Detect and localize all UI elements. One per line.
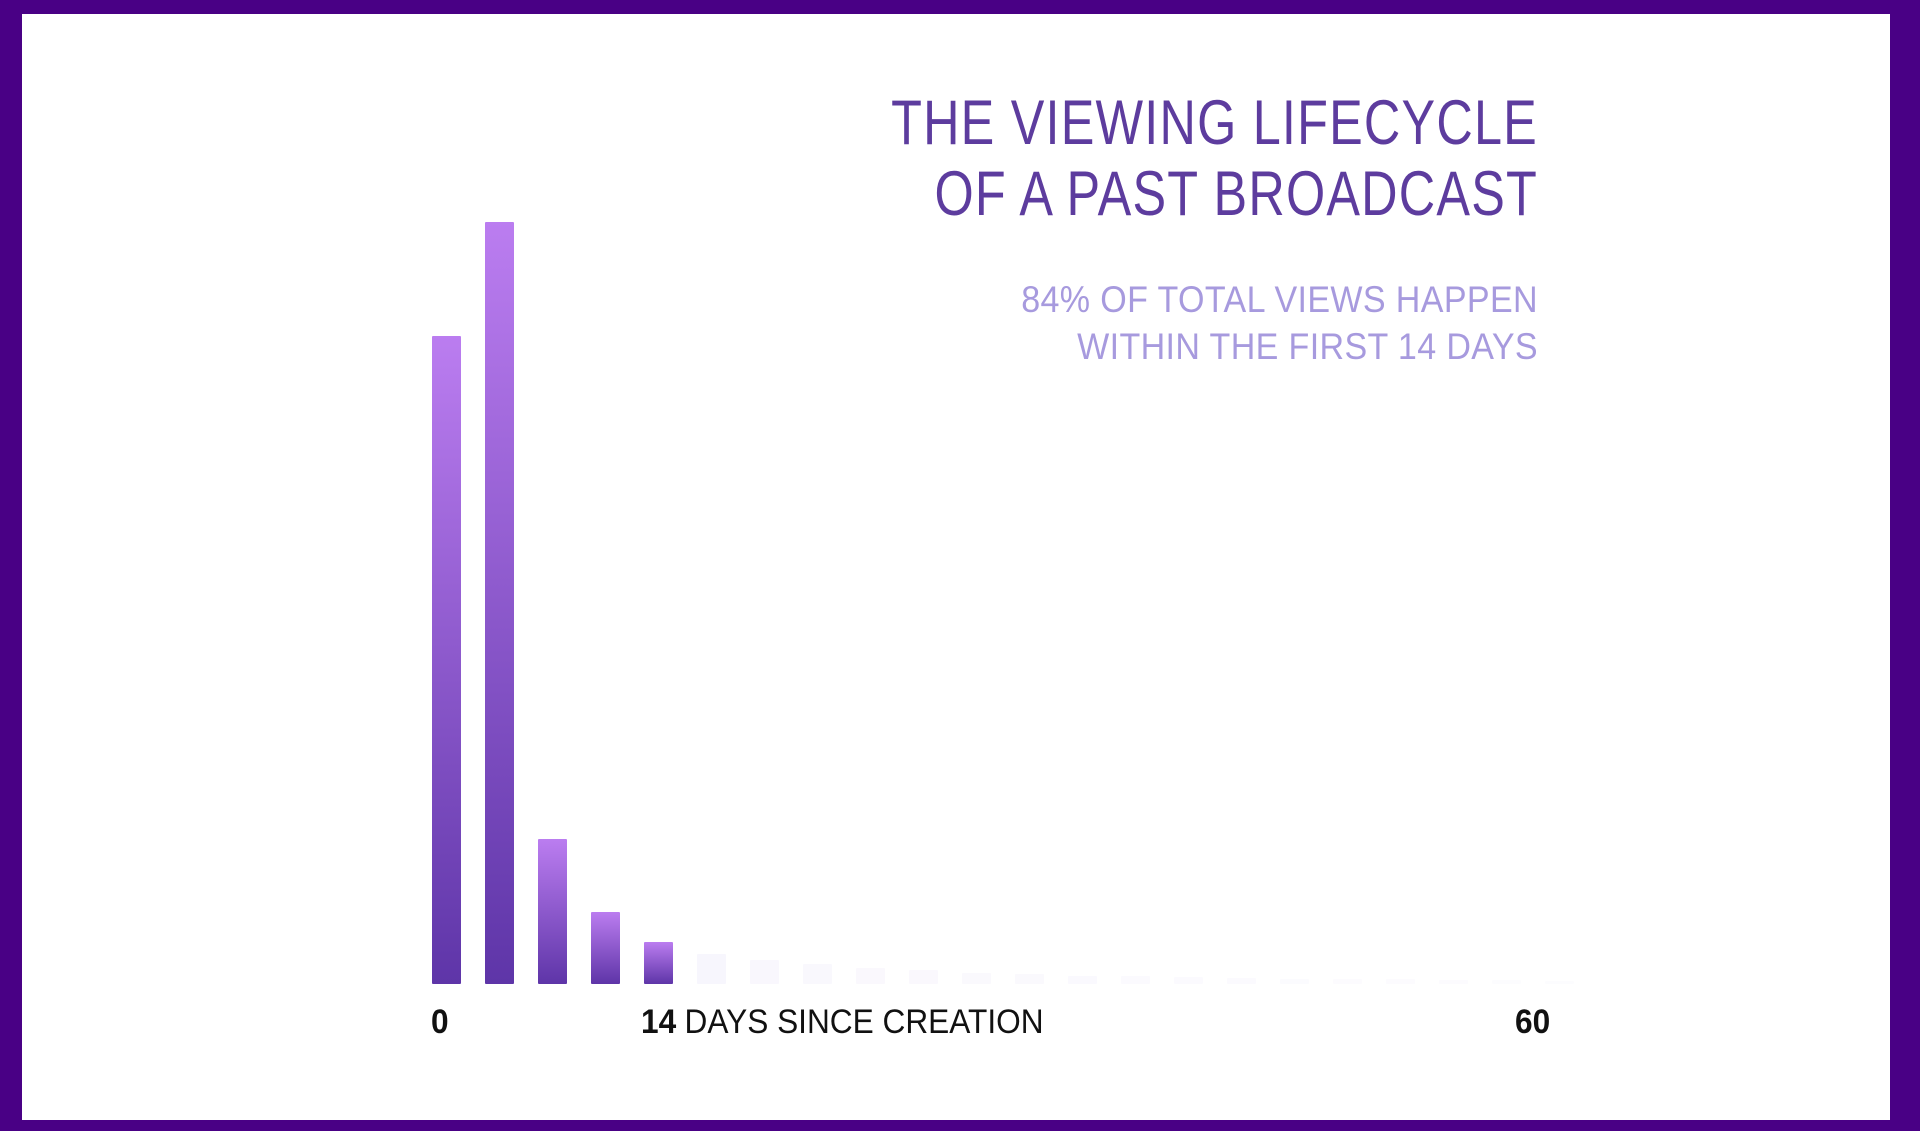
- bar: [644, 942, 673, 984]
- x-axis-labels: 0 14 DAYS SINCE CREATION 60: [409, 1002, 1599, 1054]
- bar: [962, 973, 991, 984]
- bar: [1015, 974, 1044, 984]
- bar: [1121, 976, 1150, 984]
- bar: [1280, 979, 1309, 984]
- bar: [1492, 980, 1521, 984]
- bar: [909, 970, 938, 984]
- bar: [538, 839, 567, 984]
- x-axis-label-start: 0: [431, 1002, 449, 1042]
- bar: [485, 222, 514, 984]
- bar: [1386, 979, 1415, 984]
- bar: [591, 912, 620, 984]
- x-axis-label-mid-group: 14 DAYS SINCE CREATION: [641, 1002, 1044, 1042]
- bar: [1545, 981, 1574, 984]
- infographic-screenshot: THE VIEWING LIFECYCLE OF A PAST BROADCAS…: [0, 0, 1920, 1131]
- bar: [432, 336, 461, 984]
- bar: [1333, 979, 1362, 984]
- bar: [750, 960, 779, 984]
- bar: [697, 954, 726, 984]
- x-axis-caption: DAYS SINCE CREATION: [685, 1002, 1044, 1042]
- chart-title-line-1: THE VIEWING LIFECYCLE: [738, 88, 1538, 159]
- bar-chart-plot-area: [409, 222, 1589, 984]
- bar: [1439, 980, 1468, 984]
- bar: [1068, 976, 1097, 984]
- x-axis-label-end: 60: [1515, 1002, 1550, 1042]
- bar: [1227, 978, 1256, 984]
- x-axis-label-mid: 14: [641, 1002, 676, 1042]
- white-canvas: THE VIEWING LIFECYCLE OF A PAST BROADCAS…: [22, 14, 1890, 1120]
- bar: [803, 964, 832, 984]
- bar: [856, 968, 885, 984]
- chart-title: THE VIEWING LIFECYCLE OF A PAST BROADCAS…: [538, 88, 1538, 230]
- bar: [1174, 977, 1203, 984]
- bar-chart: [409, 214, 1589, 984]
